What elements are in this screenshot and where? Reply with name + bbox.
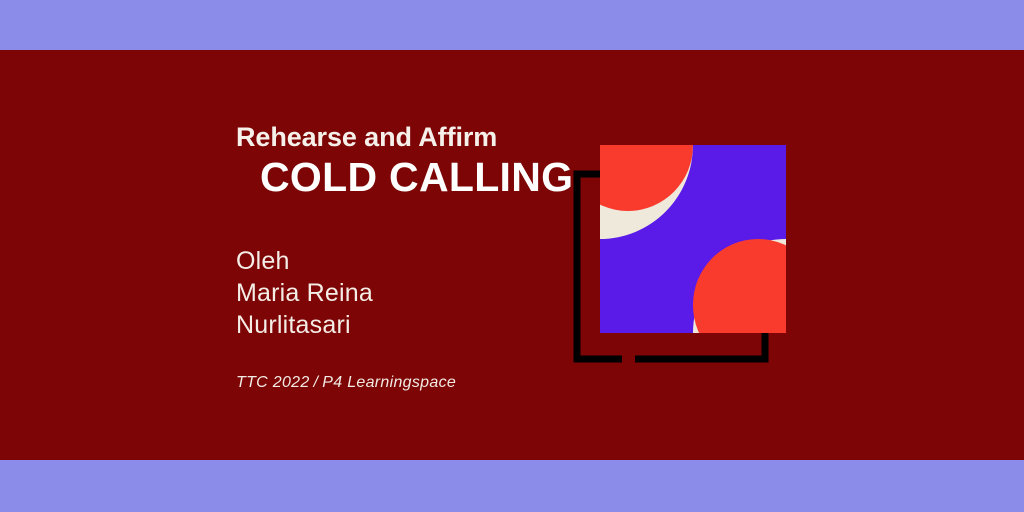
slide-footer: TTC 2022/P4 Learningspace [236,374,566,392]
quarter-circle-red-icon [600,145,693,211]
author-line-last: Nurlitasari [236,309,566,341]
slide-eyebrow: Rehearse and Affirm [236,124,566,151]
art-cell-top-right [693,145,786,239]
author-line-prefix: Oleh [236,245,566,277]
art-cell-bottom-right [693,239,786,333]
title-text-block: Rehearse and Affirm COLD CALLING Oleh Ma… [236,124,566,392]
footer-event: TTC 2022 [236,374,310,391]
top-accent-band [0,0,1024,50]
footer-separator: / [310,374,323,391]
author-block: Oleh Maria Reina Nurlitasari [236,245,566,341]
decorative-graphic [560,130,810,380]
art-cell-top-left [600,145,693,239]
footer-program: P4 Learningspace [322,374,456,391]
art-cell-bottom-left [600,239,693,333]
bottom-accent-band [0,460,1024,512]
author-line-first: Maria Reina [236,277,566,309]
page-title: COLD CALLING [260,157,566,198]
quarter-circle-red-icon [693,239,786,333]
presentation-slide: Rehearse and Affirm COLD CALLING Oleh Ma… [0,0,1024,512]
geometric-quarter-circle-square [600,145,786,333]
